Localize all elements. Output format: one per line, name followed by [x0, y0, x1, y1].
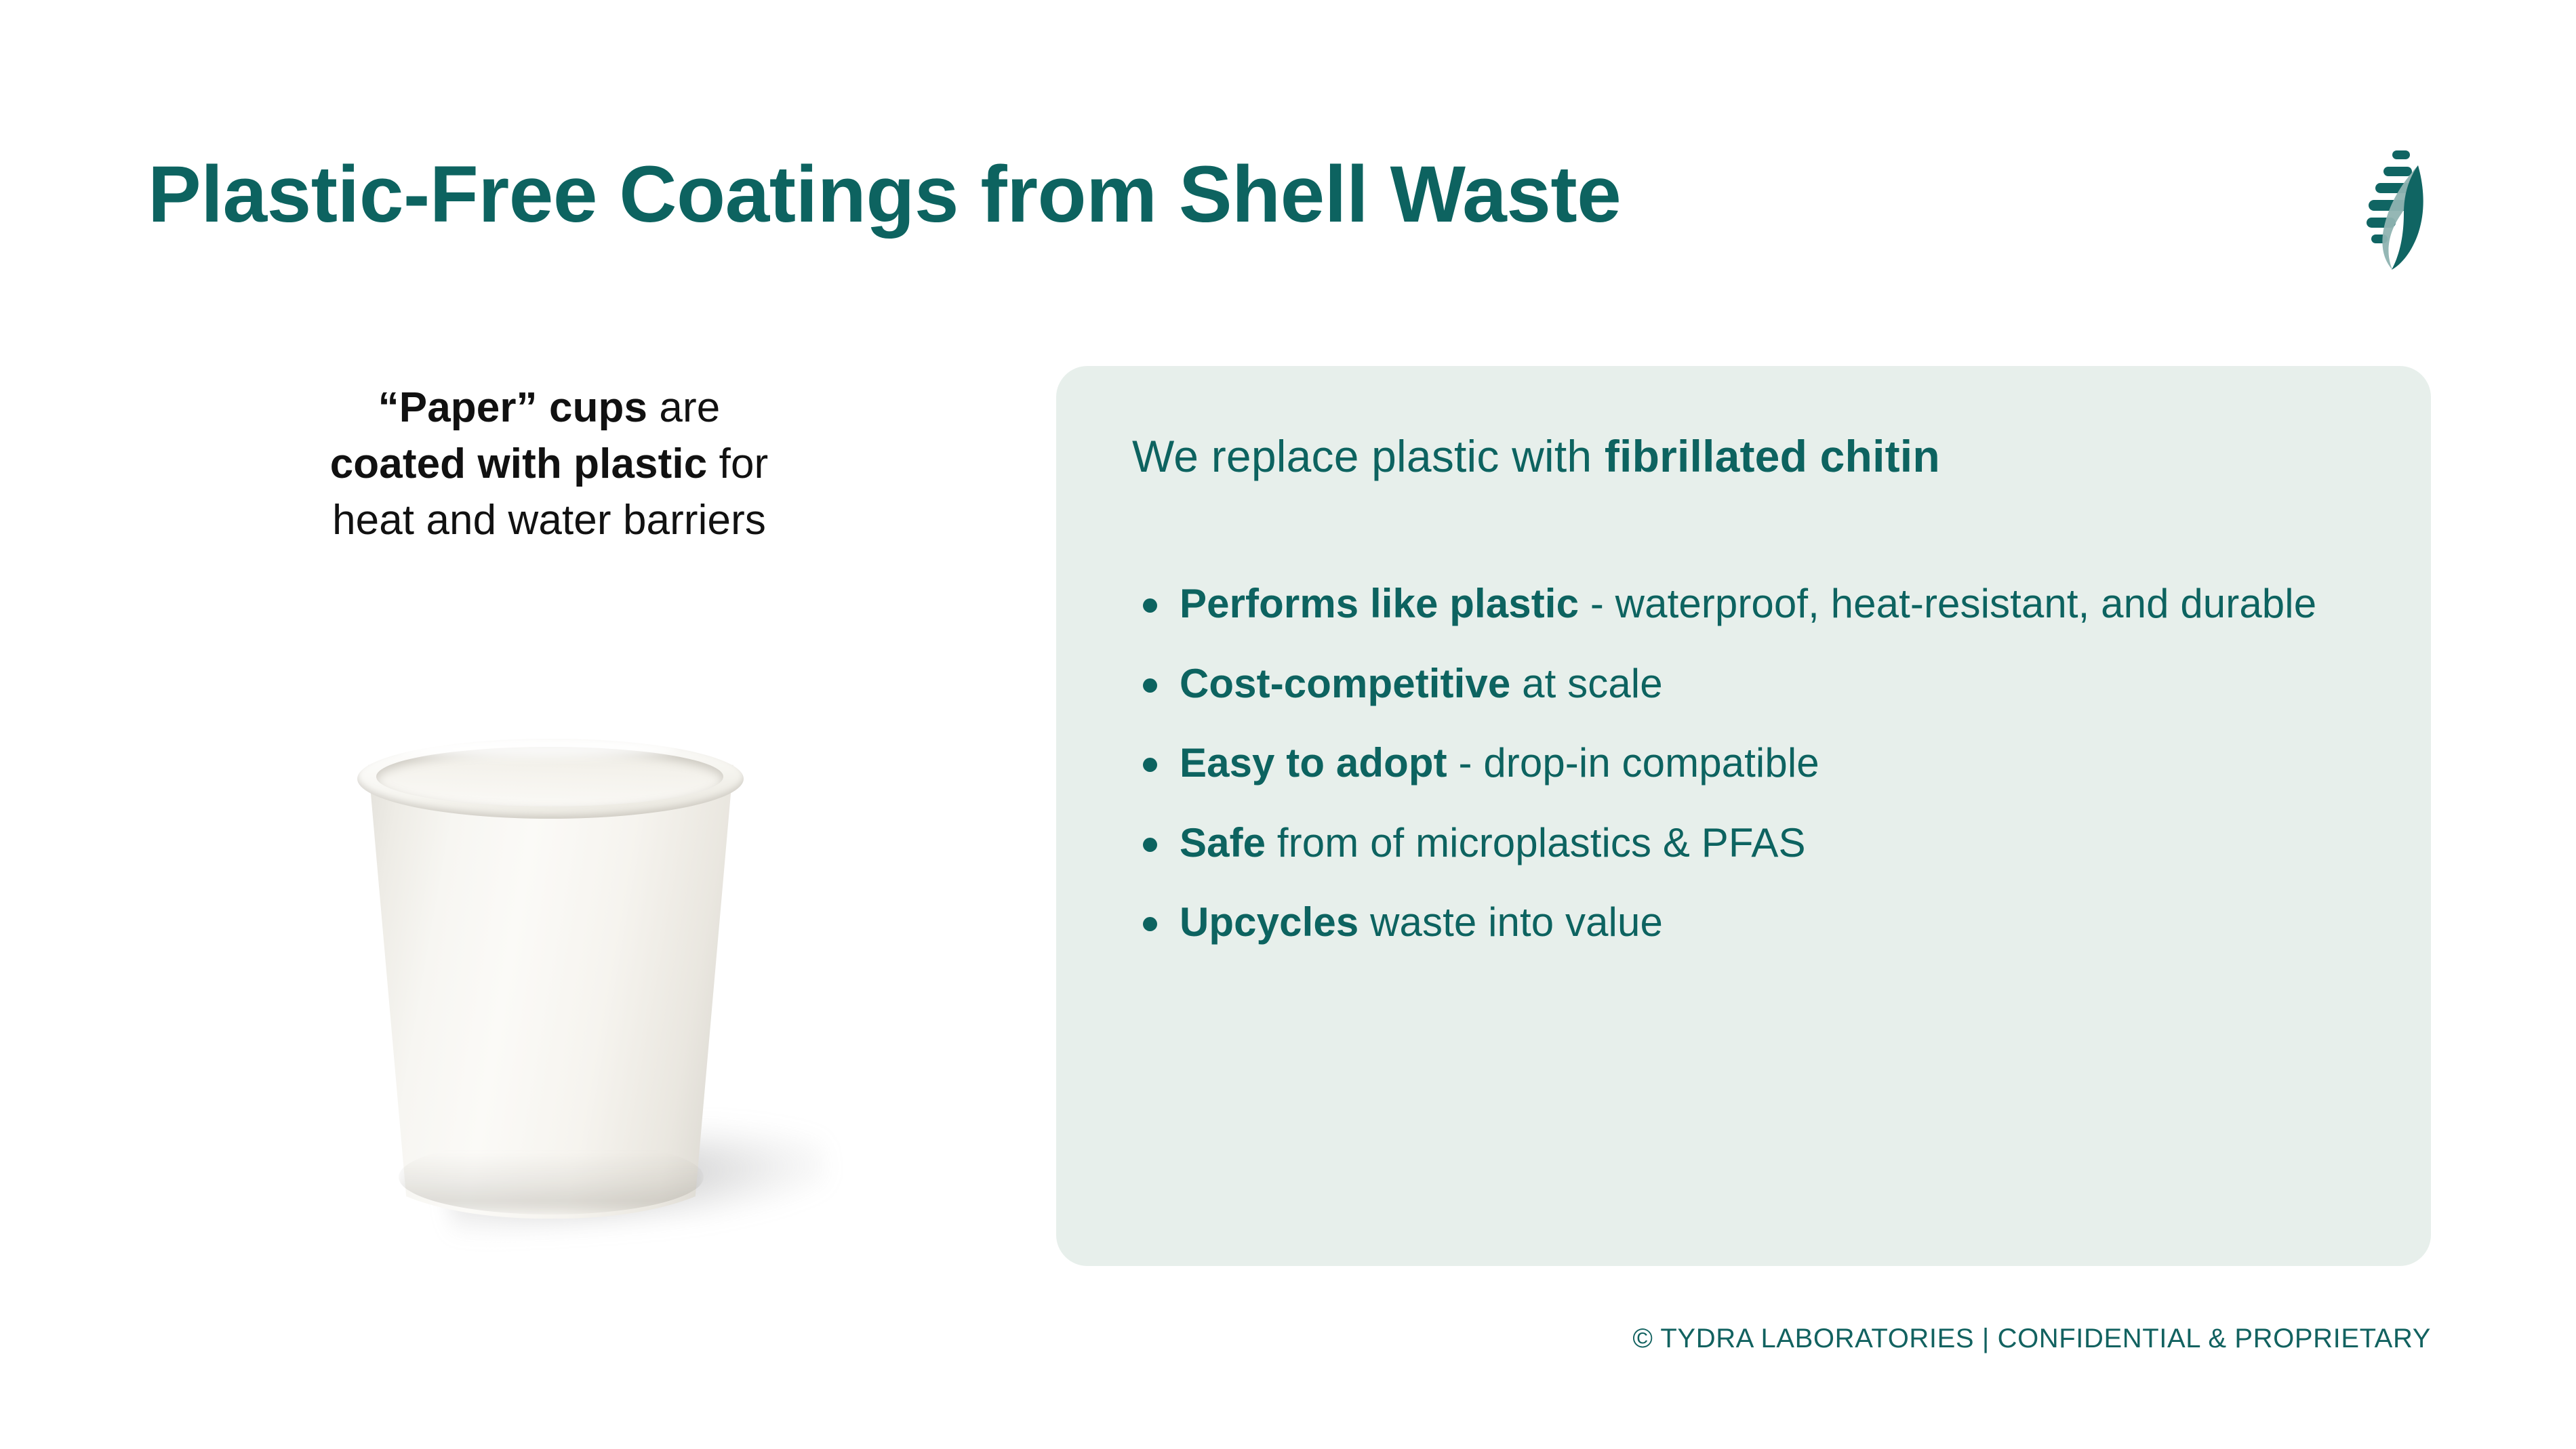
- bullet-dot-icon: [1143, 838, 1157, 852]
- paper-cup-image: [291, 718, 847, 1261]
- list-item: Safe from of microplastics & PFAS: [1131, 815, 2383, 871]
- bullet-dot-icon: [1143, 917, 1157, 931]
- cup-caption: “Paper” cups are coated with plastic for…: [95, 380, 1003, 548]
- list-item: Upcycles waste into value: [1131, 895, 2383, 950]
- caption-bold-1: “Paper” cups: [378, 384, 647, 431]
- caption-bold-2: coated with plastic: [330, 441, 708, 487]
- bullet-dot-icon: [1143, 678, 1157, 693]
- bullet-dot-icon: [1143, 758, 1157, 772]
- benefits-list: Performs like plastic - waterproof, heat…: [1131, 576, 2383, 950]
- bullet-rest: - drop-in compatible: [1447, 740, 1819, 785]
- list-item: Cost-competitive at scale: [1131, 656, 2383, 712]
- bullet-dot-icon: [1143, 598, 1157, 613]
- panel-lead-bold: fibrillated chitin: [1605, 431, 1940, 481]
- cup-body: [366, 751, 736, 1219]
- confidentiality-footer: © TYDRA LABORATORIES | CONFIDENTIAL & PR…: [0, 1324, 2431, 1354]
- bullet-rest: from of microplastics & PFAS: [1266, 820, 1805, 865]
- left-column: “Paper” cups are coated with plastic for…: [95, 380, 1003, 548]
- bullet-bold: Upcycles: [1180, 899, 1359, 945]
- bullet-rest: at scale: [1510, 661, 1662, 706]
- bullet-bold: Cost-competitive: [1180, 661, 1510, 706]
- bullet-bold: Easy to adopt: [1180, 740, 1447, 785]
- caption-rest-2: for: [707, 441, 768, 487]
- benefits-panel: We replace plastic with fibrillated chit…: [1056, 366, 2431, 1266]
- list-item: Performs like plastic - waterproof, heat…: [1131, 576, 2383, 632]
- bullet-bold: Performs like plastic: [1180, 581, 1579, 626]
- slide-root: Plastic-Free Coatings from Shell Waste “…: [0, 0, 2576, 1449]
- bullet-rest: - waterproof, heat-resistant, and durabl…: [1579, 581, 2316, 626]
- bullet-rest: waste into value: [1359, 899, 1663, 945]
- tydra-leaf-logo-icon: [2350, 148, 2432, 271]
- page-title: Plastic-Free Coatings from Shell Waste: [148, 155, 1621, 234]
- cup-rim-highlight: [393, 740, 678, 758]
- bullet-bold: Safe: [1180, 820, 1266, 865]
- panel-lead-prefix: We replace plastic with: [1132, 431, 1605, 481]
- list-item: Easy to adopt - drop-in compatible: [1131, 735, 2383, 791]
- slide-header: Plastic-Free Coatings from Shell Waste: [0, 0, 2576, 291]
- panel-lead-text: We replace plastic with fibrillated chit…: [1132, 430, 2390, 483]
- caption-rest-1: are: [647, 384, 720, 431]
- caption-line-3: heat and water barriers: [332, 497, 766, 544]
